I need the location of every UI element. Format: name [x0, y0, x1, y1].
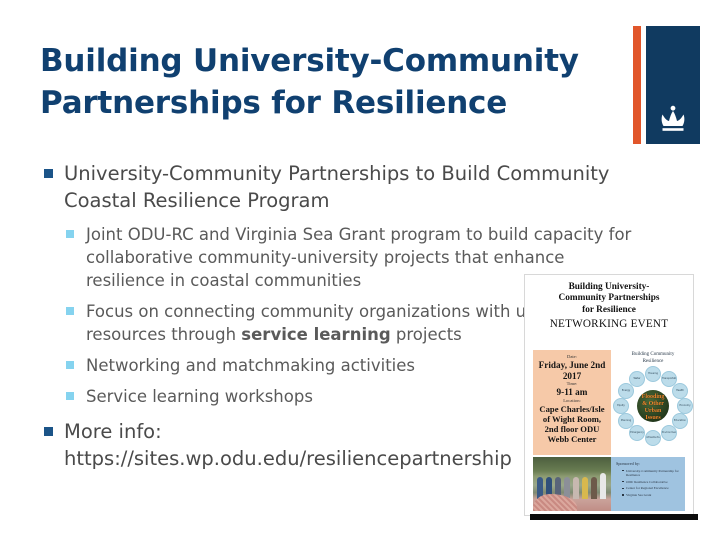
flyer-middle-section: Date: Friday, June 2nd 2017 Time: 9-11 a…	[525, 350, 693, 455]
date-value-1: Friday, June 2nd	[533, 360, 611, 371]
wheel-hub: Flooding & Other Urban Issues	[637, 390, 669, 422]
odu-logo	[633, 26, 700, 144]
wheel-title-line-2: Resilience	[613, 359, 693, 366]
bullet-level1-text: University-Community Partnerships to Bui…	[64, 162, 609, 212]
group-photo	[533, 457, 611, 511]
flyer-title: Building University- Community Partnersh…	[525, 275, 693, 331]
photo-person	[573, 477, 579, 499]
flyer-shadow	[530, 514, 698, 520]
flyer-title-line-3: for Resilience	[533, 305, 685, 316]
wheel-node: Water	[629, 371, 645, 387]
location-line-2: of Wight Room,	[533, 414, 611, 424]
wheel-node: Equity	[613, 398, 629, 414]
bullet-level1-program: University-Community Partnerships to Bui…	[40, 160, 640, 214]
flyer-title-line-2: Community Partnerships	[533, 293, 685, 304]
flyer-thumbnail: Building University- Community Partnersh…	[524, 274, 694, 516]
wheel-node: Environment	[661, 425, 677, 441]
location-line-3: 2nd floor ODU	[533, 424, 611, 434]
logo-orange-bar	[633, 26, 641, 144]
flyer-bottom-section: Sponsored by: University-Community Partn…	[525, 457, 693, 511]
crown-icon	[654, 104, 692, 134]
location-line-4: Webb Center	[533, 434, 611, 444]
resilience-wheel-diagram: Building Community Resilience Housing Tr…	[613, 350, 693, 455]
wheel-title: Building Community Resilience	[613, 350, 693, 365]
wheel-node: Housing	[645, 366, 661, 382]
title-line-2: Partnerships for Resilience	[40, 82, 610, 124]
wheel-node: Infrastructure	[645, 430, 661, 446]
sponsor-item: ODU Resilience Collaborative	[622, 480, 681, 484]
slide: Building University-Community Partnershi…	[0, 0, 720, 540]
flyer-title-line-1: Building University-	[533, 282, 685, 293]
wheel-node: Emergency	[629, 425, 645, 441]
location-line-1: Cape Charles/Isle	[533, 404, 611, 414]
bullet-marker-lightblue	[66, 307, 74, 315]
page-title: Building University-Community Partnershi…	[40, 40, 610, 124]
sponsor-item: Virginia Sea Grant	[622, 493, 681, 497]
sponsors-heading: Sponsored by:	[616, 461, 681, 466]
time-value: 9-11 am	[533, 387, 611, 398]
photo-person	[600, 473, 606, 499]
wheel-node: Health	[672, 383, 688, 399]
flyer-event-details: Date: Friday, June 2nd 2017 Time: 9-11 a…	[533, 350, 611, 455]
sub-bullet-text: Service learning workshops	[86, 387, 313, 406]
sub-bullet-text: Networking and matchmaking activities	[86, 356, 415, 375]
sponsors-box: Sponsored by: University-Community Partn…	[611, 457, 685, 511]
sponsor-item: Center for Regional Excellence	[622, 486, 681, 490]
date-value-2: 2017	[533, 371, 611, 382]
bullet-marker-lightblue	[66, 392, 74, 400]
bullet-marker-lightblue	[66, 361, 74, 369]
wheel-nodes: Housing Transportation Health Economy Ed…	[613, 366, 693, 446]
wheel-node: Economy	[677, 398, 693, 414]
bullet-marker-lightblue	[66, 230, 74, 238]
logo-navy-panel	[646, 26, 700, 144]
more-info-label: More info:	[64, 420, 162, 443]
flyer-title-line-4: NETWORKING EVENT	[533, 317, 685, 331]
title-line-1: Building University-Community	[40, 40, 610, 82]
photo-person	[582, 477, 588, 499]
hub-line-3: Urban Issues	[637, 408, 669, 422]
sub-bullet-text-bold: service learning	[241, 325, 390, 344]
sponsors-list: University-Community Partnership for Res…	[616, 469, 681, 498]
produce-pile	[533, 494, 577, 511]
bullet-marker-navy	[44, 427, 53, 436]
sponsor-item: University-Community Partnership for Res…	[622, 469, 681, 477]
photo-person	[591, 477, 597, 499]
sub-bullet-text-post: projects	[391, 325, 462, 344]
bullet-marker-navy	[44, 169, 53, 178]
wheel-title-line-1: Building Community	[613, 352, 693, 359]
